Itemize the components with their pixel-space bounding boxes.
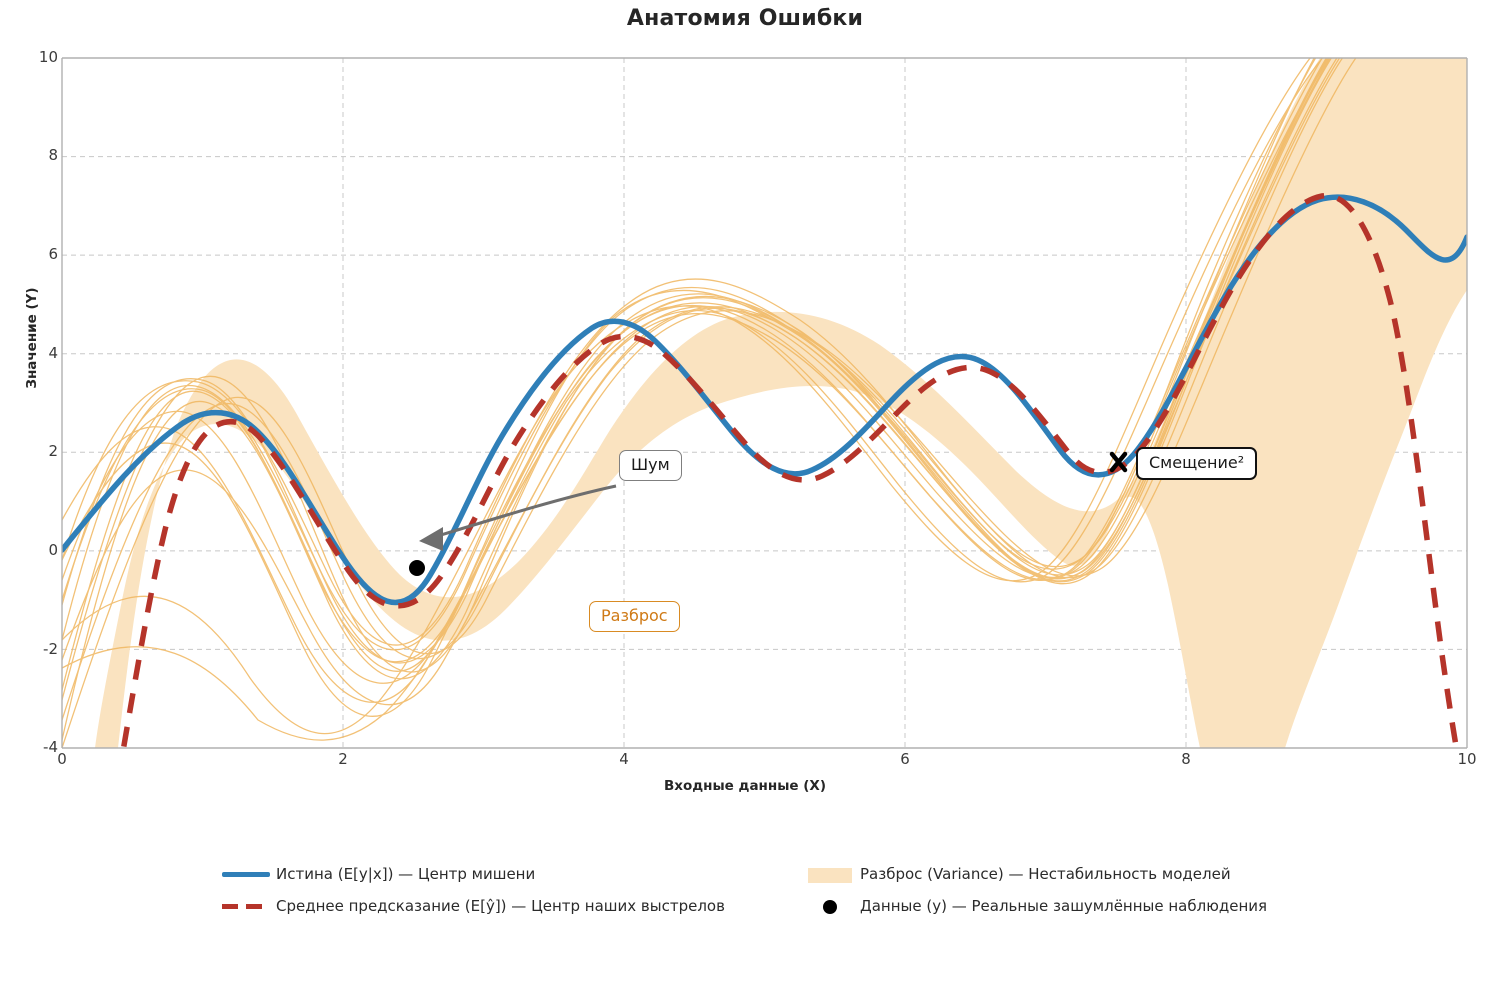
legend-item-variance[interactable]: Разброс (Variance) — Нестабильность моде…: [800, 858, 1267, 890]
legend-item-data[interactable]: Данные (y) — Реальные зашумлённые наблюд…: [800, 890, 1267, 922]
chart-legend: Истина (E[y|x]) — Центр мишени Среднее п…: [0, 858, 1490, 938]
annotation-noise[interactable]: Шум: [619, 450, 682, 481]
legend-column-left: Истина (E[y|x]) — Центр мишени Среднее п…: [216, 858, 725, 922]
legend-item-truth[interactable]: Истина (E[y|x]) — Центр мишени: [216, 858, 725, 890]
data-point: [409, 560, 425, 576]
legend-label-mean-prediction: Среднее предсказание (E[ŷ]) — Центр наши…: [276, 897, 725, 915]
annotation-variance[interactable]: Разброс: [589, 601, 680, 632]
legend-label-data: Данные (y) — Реальные зашумлённые наблюд…: [860, 897, 1267, 915]
legend-key-line-dashed-red: [216, 895, 276, 917]
plot-canvas: [0, 0, 1490, 989]
legend-item-mean-prediction[interactable]: Среднее предсказание (E[ŷ]) — Центр наши…: [216, 890, 725, 922]
legend-label-truth: Истина (E[y|x]) — Центр мишени: [276, 865, 535, 883]
legend-column-right: Разброс (Variance) — Нестабильность моде…: [800, 858, 1267, 922]
chart-figure: Анатомия Ошибки Значение (Y) Входные дан…: [0, 0, 1490, 989]
legend-key-dot-black: [800, 895, 860, 917]
legend-label-variance: Разброс (Variance) — Нестабильность моде…: [860, 865, 1231, 883]
legend-key-line-solid-blue: [216, 863, 276, 885]
legend-key-patch-orange: [800, 863, 860, 885]
annotation-bias-squared[interactable]: Смещение²: [1136, 447, 1257, 480]
